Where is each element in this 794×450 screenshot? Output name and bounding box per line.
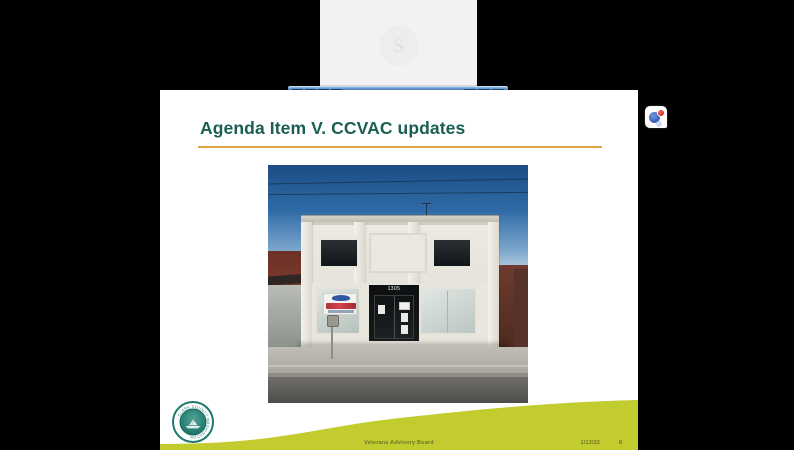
- parking-meter: [331, 323, 333, 359]
- sign-name-band: [326, 303, 356, 309]
- screen-stage: S ▶ ■ ‖ ⤢ CONFERENCE ROOM – □ × Agenda I…: [0, 0, 794, 450]
- sign-logo: [332, 295, 350, 301]
- door-notice-sign: [399, 302, 410, 310]
- seal-boat-icon: [185, 419, 202, 429]
- footer-board-name: Veterans Advisory Board: [364, 440, 434, 446]
- storefront-glass-right: [419, 287, 477, 335]
- building-cornice-band: [301, 222, 499, 225]
- building-address-number: 1305: [369, 286, 419, 292]
- upper-window-left: [318, 237, 360, 269]
- presentation-app-badge[interactable]: [645, 106, 667, 128]
- footer-page-number: 8: [619, 440, 622, 446]
- screen-share-watermark: S: [379, 26, 419, 66]
- app-badge-inner-dot: [656, 121, 662, 127]
- facade-pilaster: [301, 222, 312, 347]
- building-photo: 1305: [268, 165, 528, 403]
- sidewalk-seam: [268, 365, 528, 367]
- title-underline-rule: [198, 146, 602, 148]
- screen-share-panel: S: [320, 0, 477, 87]
- door-posted-paper: [401, 313, 408, 322]
- slide-footer-meta: Veterans Advisory Board 1/13/22 8: [160, 432, 638, 446]
- notification-dot-icon: [657, 109, 665, 117]
- facade-pilaster: [488, 222, 499, 347]
- adjacent-wall-right: [514, 269, 528, 349]
- footer-date: 1/13/22: [581, 440, 600, 446]
- sign-subtitle-band: [328, 310, 354, 313]
- slide-title: Agenda Item V. CCVAC updates: [200, 118, 465, 139]
- veterans-center-sign: [323, 293, 357, 315]
- county-seal-logo: CLARK COUNTY WASHINGTON: [172, 401, 214, 443]
- door-posted-paper: [401, 325, 408, 334]
- door-mullion: [394, 296, 395, 338]
- upper-center-panel: [369, 233, 427, 273]
- presentation-slide: Agenda Item V. CCVAC updates: [160, 90, 638, 450]
- upper-window-right: [431, 237, 473, 269]
- door-posted-paper: [378, 305, 385, 314]
